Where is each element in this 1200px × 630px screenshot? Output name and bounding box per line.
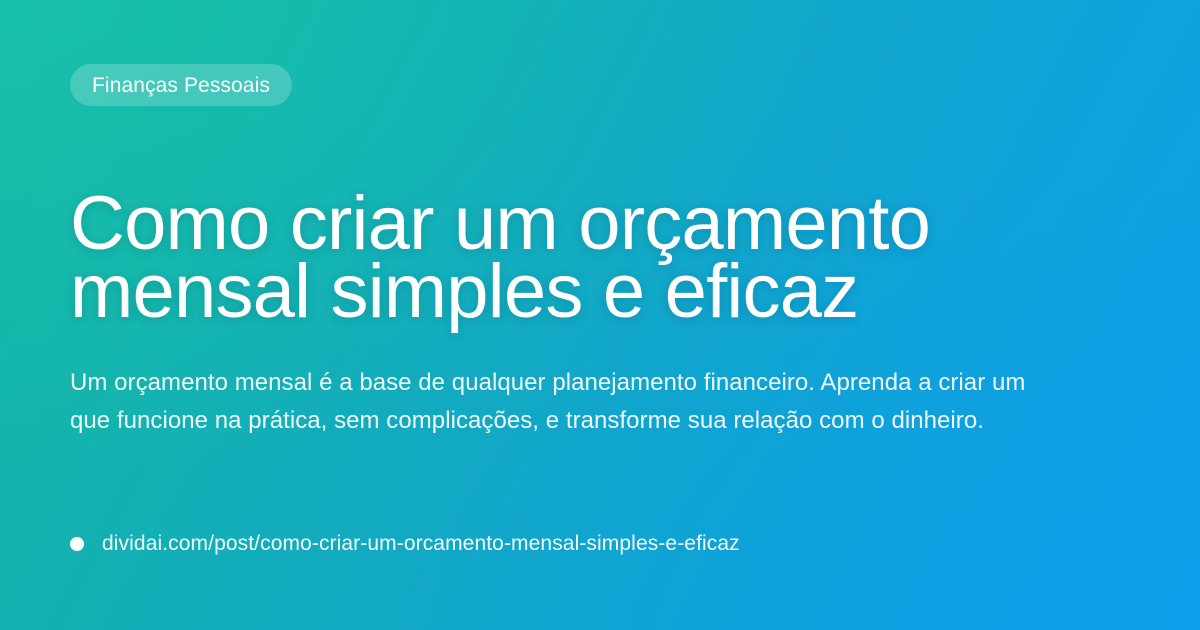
site-url[interactable]: dividai.com/post/como-criar-um-orcamento… — [102, 532, 740, 556]
badge-row: Finanças Pessoais — [70, 64, 1130, 106]
dot-icon — [70, 537, 84, 551]
footer-url-row: dividai.com/post/como-criar-um-orcamento… — [70, 532, 1130, 570]
og-card-content: Finanças Pessoais Como criar um orçament… — [0, 0, 1200, 630]
page-title: Como criar um orçamento mensal simples e… — [70, 190, 1130, 326]
category-badge[interactable]: Finanças Pessoais — [70, 64, 292, 106]
page-description: Um orçamento mensal é a base de qualquer… — [70, 364, 1030, 440]
title-block: Como criar um orçamento mensal simples e… — [70, 190, 1130, 326]
og-share-card: Finanças Pessoais Como criar um orçament… — [0, 0, 1200, 630]
